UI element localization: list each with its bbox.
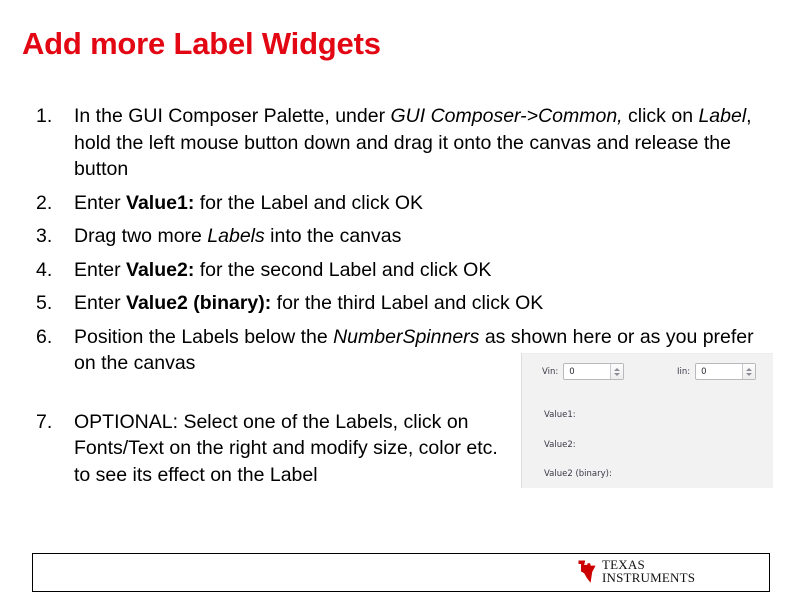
list-item: 2. Enter Value1: for the Label and click… <box>30 190 760 217</box>
list-item: 3. Drag two more Labels into the canvas <box>30 223 760 250</box>
footer-bar: TEXAS INSTRUMENTS <box>32 553 770 592</box>
canvas-label-value2: Value2: <box>544 440 576 450</box>
page-title: Add more Label Widgets <box>22 26 381 62</box>
list-item-number: 3. <box>30 223 74 250</box>
spinner-box-iin[interactable]: 0 <box>695 363 756 380</box>
list-item-text: Enter Value2 (binary): for the third Lab… <box>74 290 760 317</box>
list-item: 1. In the GUI Composer Palette, under GU… <box>30 103 760 183</box>
list-item-text: Enter Value2: for the second Label and c… <box>74 257 760 284</box>
text-segment: into the canvas <box>265 225 402 247</box>
list-item-text: Drag two more Labels into the canvas <box>74 223 760 250</box>
chevron-down-icon[interactable] <box>746 373 752 376</box>
logo-line-instruments: INSTRUMENTS <box>602 572 695 585</box>
number-spinner-vin[interactable]: Vin: 0 <box>542 363 624 380</box>
list-item: 7. OPTIONAL: Select one of the Labels, c… <box>30 409 510 489</box>
list-item-text: Enter Value1: for the Label and click OK <box>74 190 760 217</box>
text-segment-bold: Value2: <box>126 259 194 281</box>
texas-state-icon <box>578 559 597 584</box>
list-item-text: OPTIONAL: Select one of the Labels, clic… <box>74 409 510 489</box>
chevron-down-icon[interactable] <box>614 373 620 376</box>
text-segment: Position the Labels below the <box>74 326 333 348</box>
list-item-number: 5. <box>30 290 74 317</box>
list-item-text: In the GUI Composer Palette, under GUI C… <box>74 103 760 183</box>
text-segment: Enter <box>74 292 126 314</box>
text-segment: for the third Label and click OK <box>271 292 543 314</box>
text-segment: click on <box>623 105 699 127</box>
text-segment-italic: NumberSpinners <box>333 326 479 348</box>
text-segment: Drag two more <box>74 225 207 247</box>
canvas-label-value1: Value1: <box>544 410 576 420</box>
list-item: 4. Enter Value2: for the second Label an… <box>30 257 760 284</box>
text-segment-italic: Label <box>698 105 746 127</box>
text-segment-bold: Value1: <box>126 192 194 214</box>
number-spinner-row: Vin: 0 Iin: 0 <box>522 363 773 385</box>
spinner-arrows-vin[interactable] <box>610 364 623 379</box>
chevron-up-icon[interactable] <box>746 368 752 371</box>
text-segment: OPTIONAL: Select one of the Labels, clic… <box>74 411 498 486</box>
spinner-value-iin[interactable]: 0 <box>696 364 742 379</box>
list-item-number: 1. <box>30 103 74 130</box>
spinner-label-iin: Iin: <box>677 367 690 377</box>
list-item: 5. Enter Value2 (binary): for the third … <box>30 290 760 317</box>
number-spinner-iin[interactable]: Iin: 0 <box>677 363 756 380</box>
spinner-box-vin[interactable]: 0 <box>563 363 624 380</box>
list-item-number: 6. <box>30 324 74 351</box>
canvas-label-value2-binary: Value2 (binary): <box>544 469 612 479</box>
text-segment-italic: GUI Composer->Common, <box>391 105 623 127</box>
text-segment: Enter <box>74 259 126 281</box>
spinner-arrows-iin[interactable] <box>742 364 755 379</box>
list-item-number: 4. <box>30 257 74 284</box>
text-segment-bold: Value2 (binary): <box>126 292 271 314</box>
chevron-up-icon[interactable] <box>614 368 620 371</box>
list-item-number: 7. <box>30 409 74 436</box>
slide-canvas: Add more Label Widgets 1. In the GUI Com… <box>0 0 800 600</box>
text-segment: for the second Label and click OK <box>194 259 491 281</box>
texas-instruments-logo: TEXAS INSTRUMENTS <box>578 559 695 584</box>
list-item-number: 2. <box>30 190 74 217</box>
texas-instruments-wordmark: TEXAS INSTRUMENTS <box>602 559 695 584</box>
spinner-label-vin: Vin: <box>542 367 558 377</box>
spinner-value-vin[interactable]: 0 <box>564 364 610 379</box>
text-segment: Enter <box>74 192 126 214</box>
gui-composer-canvas-screenshot: Vin: 0 Iin: 0 <box>521 353 773 488</box>
text-segment: for the Label and click OK <box>194 192 423 214</box>
text-segment-italic: Labels <box>207 225 264 247</box>
text-segment: In the GUI Composer Palette, under <box>74 105 391 127</box>
